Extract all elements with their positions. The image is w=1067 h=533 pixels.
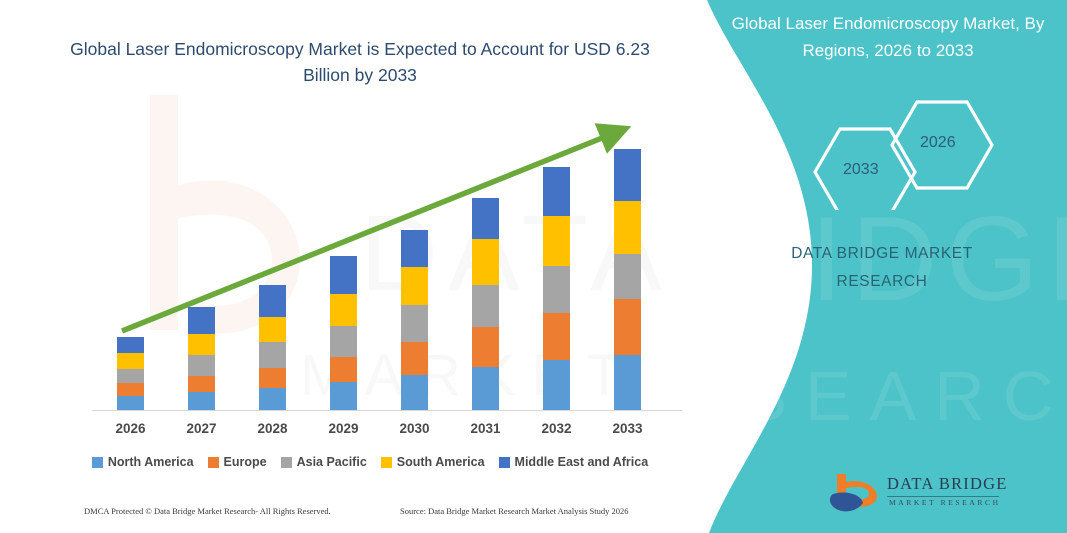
bar-segment-2031-5 <box>472 198 499 239</box>
growth-trend-arrow <box>0 0 720 533</box>
bar-segment-2030-4 <box>401 267 428 305</box>
footer: DMCA Protected © Data Bridge Market Rese… <box>0 506 700 526</box>
bar-2032 <box>543 167 570 410</box>
legend-swatch-4 <box>381 457 392 468</box>
panel-brand-text: DATA BRIDGE MARKET RESEARCH <box>717 240 1047 296</box>
legend-item-north-america[interactable]: North America <box>92 455 194 469</box>
legend-item-europe[interactable]: Europe <box>208 455 267 469</box>
bar-segment-2026-2 <box>117 383 144 396</box>
bar-segment-2026-5 <box>117 337 144 353</box>
bar-segment-2028-2 <box>259 368 286 388</box>
x-axis-label-2026: 2026 <box>101 421 161 436</box>
bar-segment-2027-3 <box>188 355 215 376</box>
company-logo: DATA BRIDGE MARKET RESEARCH <box>827 470 1027 520</box>
bar-2031 <box>472 198 499 410</box>
bar-segment-2029-5 <box>330 256 357 294</box>
bar-segment-2032-1 <box>543 360 570 410</box>
bar-2026 <box>117 337 144 410</box>
bar-segment-2030-3 <box>401 305 428 342</box>
footer-copyright: DMCA Protected © Data Bridge Market Rese… <box>84 506 331 516</box>
bar-segment-2032-5 <box>543 167 570 216</box>
hexagon-2026-label: 2026 <box>920 134 956 152</box>
legend-label-5: Middle East and Africa <box>515 455 649 469</box>
bar-segment-2028-5 <box>259 285 286 317</box>
bar-segment-2033-3 <box>614 254 641 299</box>
legend-swatch-3 <box>281 457 292 468</box>
x-axis-label-2033: 2033 <box>598 421 658 436</box>
chart-legend: North AmericaEuropeAsia PacificSouth Ame… <box>60 455 680 469</box>
legend-label-3: Asia Pacific <box>297 455 367 469</box>
chart-area: Global Laser Endomicroscopy Market is Ex… <box>0 0 720 533</box>
bar-2033 <box>614 149 641 410</box>
legend-swatch-1 <box>92 457 103 468</box>
logo-text-secondary: MARKET RESEARCH <box>889 498 1001 507</box>
legend-label-2: Europe <box>224 455 267 469</box>
bar-segment-2031-1 <box>472 367 499 410</box>
bar-segment-2027-5 <box>188 307 215 334</box>
x-axis-label-2027: 2027 <box>172 421 232 436</box>
bar-segment-2027-4 <box>188 334 215 355</box>
bar-segment-2031-4 <box>472 239 499 285</box>
x-axis-label-2030: 2030 <box>385 421 445 436</box>
bar-segment-2030-2 <box>401 342 428 375</box>
bar-segment-2029-2 <box>330 357 357 382</box>
legend-label-4: South America <box>397 455 485 469</box>
bar-segment-2026-3 <box>117 369 144 383</box>
bar-segment-2030-5 <box>401 230 428 267</box>
bar-segment-2033-2 <box>614 299 641 355</box>
footer-source: Source: Data Bridge Market Research Mark… <box>400 506 629 516</box>
logo-text-primary: DATA BRIDGE <box>887 474 1008 494</box>
bar-segment-2032-2 <box>543 313 570 360</box>
legend-swatch-5 <box>499 457 510 468</box>
hexagon-group: 2026 2033 <box>667 100 1067 210</box>
bar-segment-2030-1 <box>401 375 428 410</box>
bar-2027 <box>188 307 215 410</box>
bar-2029 <box>330 256 357 410</box>
bar-segment-2027-1 <box>188 392 215 410</box>
x-axis-label-2031: 2031 <box>456 421 516 436</box>
bar-segment-2026-1 <box>117 396 144 410</box>
legend-item-middle-east-and-africa[interactable]: Middle East and Africa <box>499 455 649 469</box>
bar-segment-2026-4 <box>117 353 144 369</box>
x-axis-labels: 20262027202820292030203120322033 <box>0 421 720 443</box>
legend-item-south-america[interactable]: South America <box>381 455 485 469</box>
bar-segment-2028-4 <box>259 317 286 342</box>
bar-segment-2028-1 <box>259 388 286 410</box>
panel-title: Global Laser Endomicroscopy Market, By R… <box>723 10 1053 64</box>
bar-segment-2032-4 <box>543 216 570 266</box>
bar-segment-2028-3 <box>259 342 286 368</box>
legend-label-1: North America <box>108 455 194 469</box>
bar-segment-2031-3 <box>472 285 499 327</box>
bar-segment-2027-2 <box>188 376 215 392</box>
infographic-root: DATA MARKET BRIDGE RESEARCH Global Laser… <box>0 0 1067 533</box>
panel-brand-line2: RESEARCH <box>717 268 1047 296</box>
x-axis-label-2028: 2028 <box>243 421 303 436</box>
bar-2028 <box>259 285 286 410</box>
plot-region <box>0 0 720 533</box>
legend-item-asia-pacific[interactable]: Asia Pacific <box>281 455 367 469</box>
bar-segment-2031-2 <box>472 327 499 367</box>
bar-segment-2029-4 <box>330 294 357 326</box>
right-panel-content: Global Laser Endomicroscopy Market, By R… <box>667 0 1067 533</box>
panel-brand-line1: DATA BRIDGE MARKET <box>717 240 1047 268</box>
bar-segment-2033-1 <box>614 355 641 410</box>
logo-divider <box>887 496 999 497</box>
x-axis-label-2029: 2029 <box>314 421 374 436</box>
bar-segment-2032-3 <box>543 266 570 313</box>
logo-mark-icon <box>827 470 883 516</box>
bar-segment-2033-4 <box>614 201 641 254</box>
bar-2030 <box>401 230 428 410</box>
legend-swatch-2 <box>208 457 219 468</box>
bar-segment-2033-5 <box>614 149 641 201</box>
x-axis-label-2032: 2032 <box>527 421 587 436</box>
bar-segment-2029-3 <box>330 326 357 357</box>
hexagon-2033-label: 2033 <box>843 161 879 179</box>
bar-segment-2029-1 <box>330 382 357 410</box>
